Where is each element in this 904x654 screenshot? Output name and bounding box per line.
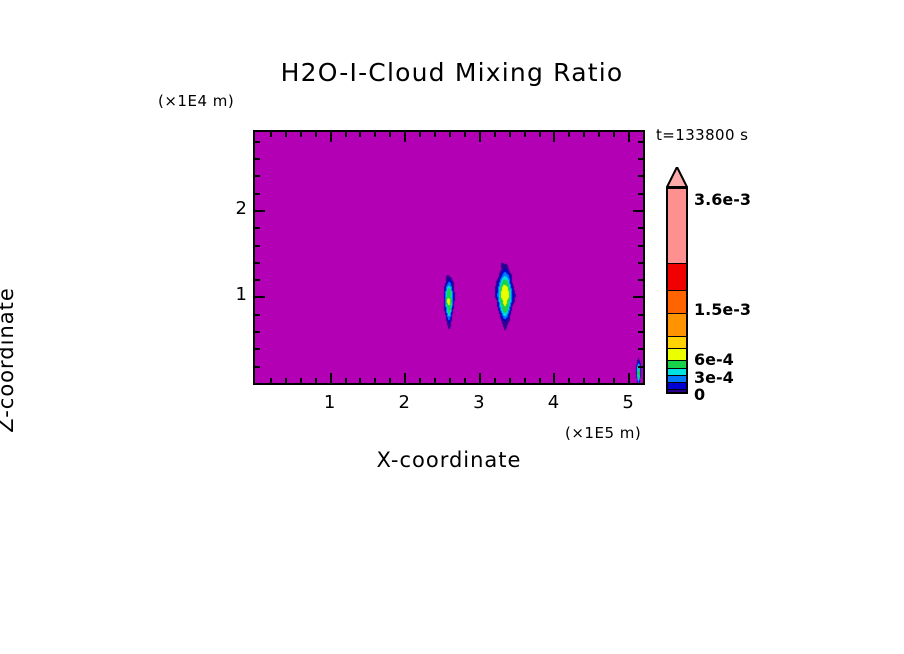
x-tick-major (404, 373, 406, 383)
y-tick-minor (255, 227, 260, 229)
x-tick-minor (359, 378, 361, 383)
heatmap-field (255, 132, 643, 383)
x-tick-minor (389, 378, 391, 383)
y-tick-minor-right (638, 262, 643, 264)
x-tick-minor (539, 378, 541, 383)
y-tick-minor (255, 366, 260, 368)
x-tick-minor (270, 378, 272, 383)
colorbar-band (668, 368, 686, 375)
colorbar-band (668, 290, 686, 313)
colorbar-overflow-arrow (666, 167, 688, 188)
x-tick-major-top (479, 132, 481, 142)
x-tick-minor-top (464, 132, 466, 137)
x-tick-minor-top (345, 132, 347, 137)
colorbar-band (668, 360, 686, 368)
x-tick-minor (419, 378, 421, 383)
colorbar-band (668, 389, 686, 394)
x-tick-minor (285, 378, 287, 383)
y-tick-minor-right (638, 348, 643, 350)
time-stamp-label: t=133800 s (656, 126, 748, 144)
x-tick-minor (434, 378, 436, 383)
y-tick-minor-right (638, 279, 643, 281)
colorbar-tick-label: 3.6e-3 (694, 190, 751, 209)
colorbar (666, 187, 688, 394)
y-tick-minor (255, 314, 260, 316)
y-tick-major (255, 296, 265, 298)
x-axis-title: X-coordinate (253, 448, 645, 472)
y-tick-minor-right (638, 141, 643, 143)
x-tick-minor (583, 378, 585, 383)
y-tick-minor-right (638, 245, 643, 247)
x-tick-major-top (628, 132, 630, 142)
y-tick-minor (255, 262, 260, 264)
x-tick-major (553, 373, 555, 383)
x-tick-minor-top (583, 132, 585, 137)
x-tick-minor-top (494, 132, 496, 137)
x-tick-minor-top (568, 132, 570, 137)
x-tick-minor (374, 378, 376, 383)
y-tick-major-right (633, 210, 643, 212)
x-tick-minor (494, 378, 496, 383)
x-tick-minor (464, 378, 466, 383)
y-tick-minor (255, 279, 260, 281)
x-tick-minor (315, 378, 317, 383)
y-tick-major-right (633, 296, 643, 298)
x-tick-major-top (404, 132, 406, 142)
x-tick-minor-top (359, 132, 361, 137)
plot-area (253, 130, 645, 385)
x-tick-minor (524, 378, 526, 383)
y-axis-title: Z-coordinate (0, 140, 18, 580)
x-tick-major (628, 373, 630, 383)
colorbar-band (668, 375, 686, 382)
colorbar-band (668, 382, 686, 389)
x-tick-minor-top (300, 132, 302, 137)
x-tick-major (330, 373, 332, 383)
y-tick-minor-right (638, 331, 643, 333)
y-tick-minor-right (638, 366, 643, 368)
x-tick-minor (509, 378, 511, 383)
colorbar-band (668, 189, 686, 263)
colorbar-tick-label: 6e-4 (694, 350, 734, 369)
colorbar-band (668, 336, 686, 348)
x-tick-label: 1 (315, 392, 345, 413)
colorbar-tick-label: 1.5e-3 (694, 300, 751, 319)
x-tick-minor-top (270, 132, 272, 137)
x-tick-major-top (330, 132, 332, 142)
colorbar-tick-label: 0 (694, 385, 705, 404)
x-tick-major-top (553, 132, 555, 142)
x-axis-unit-label: (×1E5 m) (565, 424, 641, 442)
y-tick-minor (255, 158, 260, 160)
y-tick-minor (255, 245, 260, 247)
y-tick-minor-right (638, 193, 643, 195)
x-tick-label: 4 (538, 392, 568, 413)
page-title: H2O-I-Cloud Mixing Ratio (0, 58, 904, 87)
x-tick-label: 2 (389, 392, 419, 413)
x-tick-minor-top (509, 132, 511, 137)
x-tick-minor (568, 378, 570, 383)
y-tick-minor (255, 193, 260, 195)
x-tick-minor-top (374, 132, 376, 137)
y-tick-minor (255, 175, 260, 177)
y-tick-minor (255, 141, 260, 143)
x-tick-minor-top (419, 132, 421, 137)
x-tick-minor-top (613, 132, 615, 137)
y-tick-label: 1 (217, 284, 247, 305)
y-tick-minor (255, 348, 260, 350)
x-tick-minor (449, 378, 451, 383)
y-tick-minor (255, 331, 260, 333)
x-tick-minor-top (285, 132, 287, 137)
x-tick-minor-top (389, 132, 391, 137)
y-tick-minor-right (638, 227, 643, 229)
x-tick-minor-top (315, 132, 317, 137)
x-tick-minor-top (449, 132, 451, 137)
x-tick-minor-top (539, 132, 541, 137)
x-tick-label: 5 (613, 392, 643, 413)
x-tick-minor (613, 378, 615, 383)
y-tick-minor-right (638, 158, 643, 160)
y-tick-minor-right (638, 175, 643, 177)
x-tick-minor-top (524, 132, 526, 137)
y-tick-label: 2 (217, 198, 247, 219)
figure-canvas: H2O-I-Cloud Mixing Ratio (×1E4 m) (×1E5 … (0, 0, 904, 654)
x-tick-minor (300, 378, 302, 383)
y-axis-unit-label: (×1E4 m) (158, 92, 234, 110)
x-tick-major (479, 373, 481, 383)
y-tick-minor-right (638, 314, 643, 316)
x-tick-minor (598, 378, 600, 383)
y-tick-major (255, 210, 265, 212)
x-tick-minor-top (434, 132, 436, 137)
x-tick-minor (345, 378, 347, 383)
x-tick-minor-top (598, 132, 600, 137)
colorbar-band (668, 313, 686, 336)
x-tick-label: 3 (464, 392, 494, 413)
colorbar-band (668, 263, 686, 290)
colorbar-band (668, 348, 686, 360)
